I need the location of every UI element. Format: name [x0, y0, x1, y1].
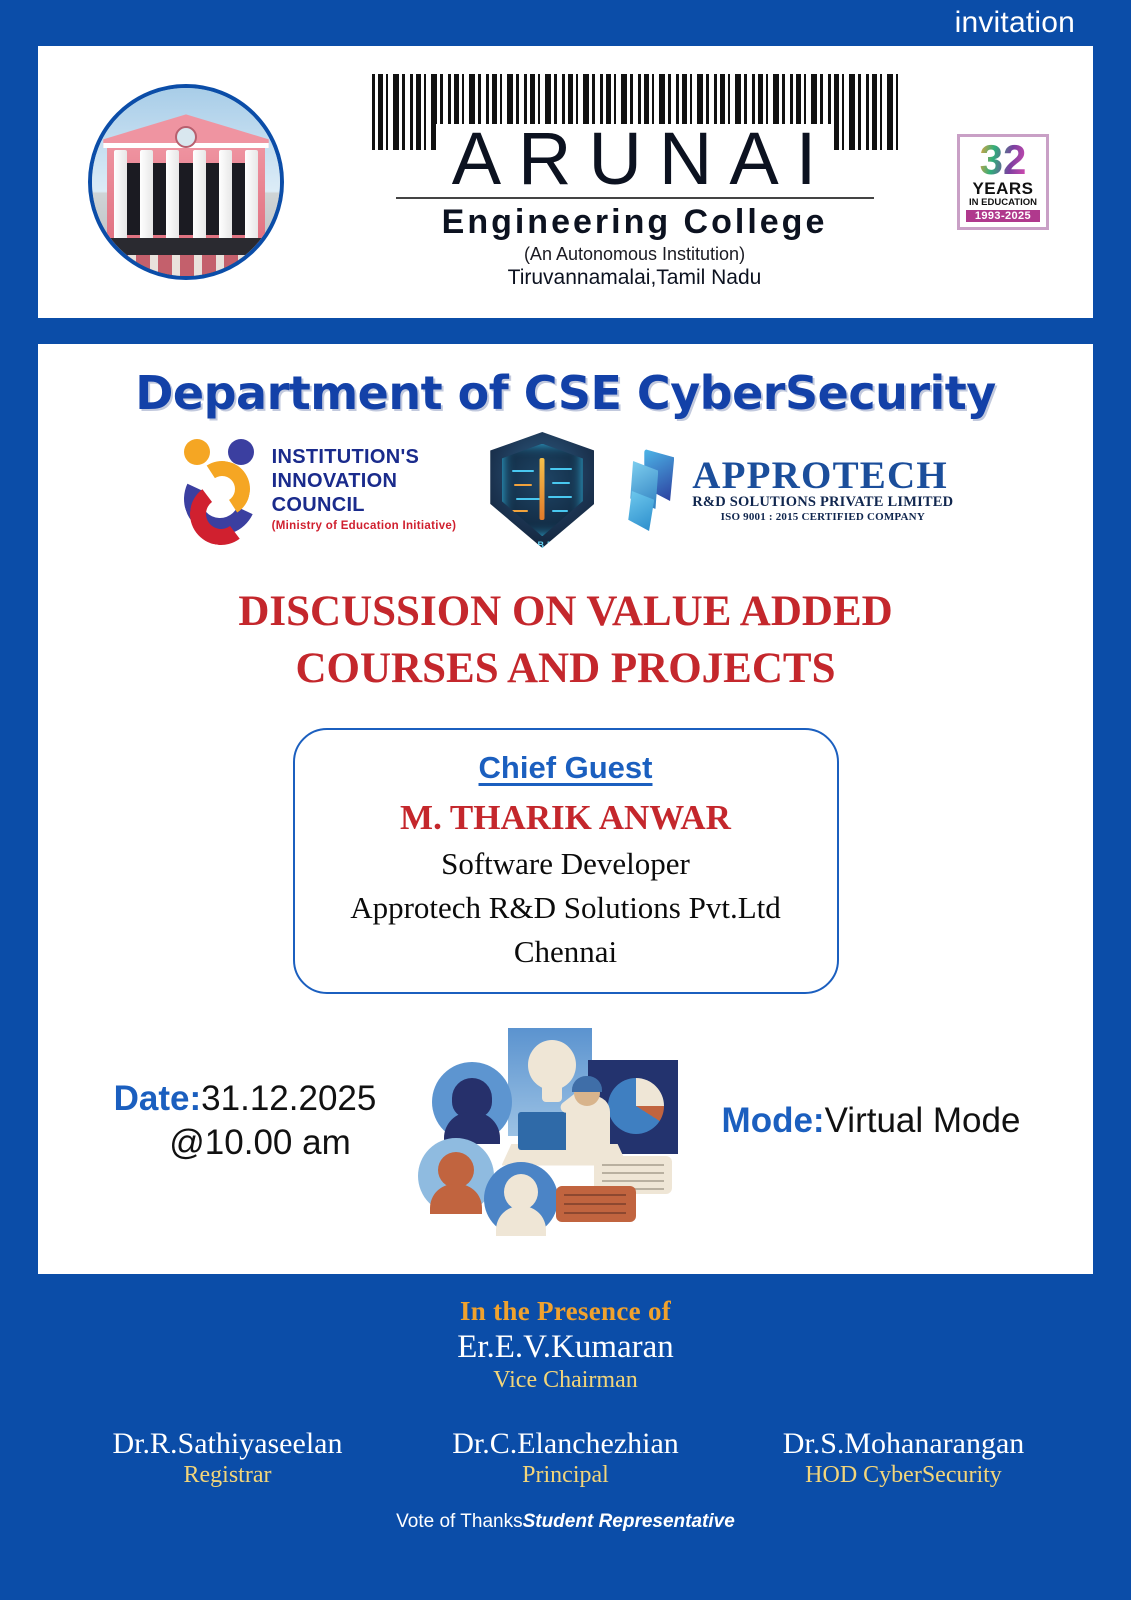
- date-label: Date:: [114, 1079, 202, 1118]
- mode-block: Mode:Virtual Mode: [691, 1101, 1051, 1141]
- mode-label: Mode:: [722, 1101, 825, 1140]
- vice-chairman-role: Vice Chairman: [0, 1367, 1131, 1394]
- pie-chart-icon: [608, 1078, 664, 1134]
- badge-education: IN EDUCATION: [969, 197, 1037, 208]
- mode-line: Mode:Virtual Mode: [691, 1101, 1051, 1141]
- approtech-line3: ISO 9001 : 2015 CERTIFIED COMPANY: [692, 511, 953, 523]
- partner-logos-row: INSTITUTION'S INNOVATION COUNCIL (Minist…: [62, 432, 1069, 548]
- date-line: Date:31.12.2025: [80, 1079, 410, 1119]
- virtual-meeting-illustration: [416, 1016, 686, 1226]
- avatar-icon: [484, 1162, 558, 1236]
- date-block: Date:31.12.2025 @10.00 am: [80, 1079, 410, 1163]
- college-name: ARUNAI: [436, 124, 834, 194]
- signatory-principal: Dr.C.Elanchezhian Principal: [406, 1428, 726, 1489]
- invitation-poster: { "top_label": "invitation", "header": {…: [0, 0, 1131, 1600]
- event-main-panel: Department of CSE CyberSecurity INSTITUT…: [38, 344, 1093, 1274]
- anniversary-badge: 32 YEARS IN EDUCATION 1993-2025: [957, 134, 1049, 230]
- sword-icon: [540, 458, 545, 519]
- department-title: Department of CSE CyberSecurity: [135, 366, 996, 420]
- vote-of-thanks-label: Vote of Thanks: [396, 1511, 522, 1532]
- mode-value: Virtual Mode: [825, 1101, 1021, 1140]
- chief-guest-city: Chennai: [315, 930, 817, 974]
- badge-number: 32: [980, 140, 1027, 180]
- badge-year-range: 1993-2025: [966, 210, 1040, 222]
- approtech-name: APPROTECH: [692, 457, 953, 494]
- iic-line1: INSTITUTION'S: [272, 446, 457, 470]
- approtech-logo-text: APPROTECH R&D SOLUTIONS PRIVATE LIMITED …: [692, 457, 953, 523]
- chief-guest-organisation: Approtech R&D Solutions Pvt.Ltd: [315, 886, 817, 930]
- chief-guest-name: M. THARIK ANWAR: [315, 798, 817, 838]
- college-name-line2: Engineering College: [442, 203, 828, 242]
- autonomous-tagline: (An Autonomous Institution): [524, 244, 745, 265]
- building-plaza: [92, 255, 280, 276]
- event-title-line1: DISCUSSION ON VALUE ADDED: [238, 584, 892, 641]
- approtech-logo: APPROTECH R&D SOLUTIONS PRIVATE LIMITED …: [628, 447, 953, 533]
- signatory-registrar: Dr.R.Sathiyaseelan Registrar: [68, 1428, 388, 1489]
- badge-years: YEARS: [972, 180, 1033, 197]
- chief-guest-heading: Chief Guest: [315, 750, 817, 786]
- cyber-shield-label: CYBER: [490, 540, 594, 550]
- chief-guest-box: Chief Guest M. THARIK ANWAR Software Dev…: [293, 728, 839, 994]
- chief-guest-designation: Software Developer: [315, 842, 817, 886]
- cyber-shield-icon: CYBER: [490, 432, 594, 548]
- college-header-panel: ARUNAI Engineering College (An Autonomou…: [38, 46, 1093, 318]
- college-location: Tiruvannamalai,Tamil Nadu: [508, 266, 762, 290]
- college-building-photo: [88, 84, 284, 280]
- building-columns: [107, 150, 265, 238]
- iic-line3: COUNCIL: [272, 494, 457, 518]
- vote-of-thanks-by: Student Representative: [523, 1511, 735, 1532]
- vice-chairman-name: Er.E.V.Kumaran: [0, 1329, 1131, 1366]
- arunai-wordmark: ARUNAI Engineering College (An Autonomou…: [318, 74, 951, 289]
- avatar-icon: [432, 1062, 512, 1142]
- signatory-name: Dr.C.Elanchezhian: [406, 1428, 726, 1460]
- signatories-row: Dr.R.Sathiyaseelan Registrar Dr.C.Elanch…: [0, 1428, 1131, 1489]
- iic-line2: INNOVATION: [272, 470, 457, 494]
- iic-people-icon: [178, 435, 262, 545]
- signatory-name: Dr.R.Sathiyaseelan: [68, 1428, 388, 1460]
- time-value: @10.00 am: [80, 1123, 410, 1163]
- signatory-role: Principal: [406, 1462, 726, 1489]
- shield-inner: [502, 444, 583, 537]
- speech-bubble-icon: [556, 1186, 636, 1222]
- signatory-role: HOD CyberSecurity: [744, 1462, 1064, 1489]
- vote-of-thanks: Vote of ThanksStudent Representative: [0, 1511, 1131, 1533]
- top-bar: invitation: [0, 0, 1131, 46]
- signatory-role: Registrar: [68, 1462, 388, 1489]
- panel-gap: [0, 318, 1131, 344]
- avatar-icon: [418, 1138, 494, 1214]
- college-emblem-icon: [175, 126, 197, 148]
- signatory-name: Dr.S.Mohanarangan: [744, 1428, 1064, 1460]
- invitation-label: invitation: [955, 6, 1075, 40]
- footer: In the Presence of Er.E.V.Kumaran Vice C…: [0, 1274, 1131, 1543]
- signatory-hod: Dr.S.Mohanarangan HOD CyberSecurity: [744, 1428, 1064, 1489]
- approtech-mark-icon: [628, 447, 690, 533]
- presence-label: In the Presence of: [0, 1296, 1131, 1327]
- iic-logo: INSTITUTION'S INNOVATION COUNCIL (Minist…: [178, 435, 457, 545]
- date-value: 31.12.2025: [201, 1079, 376, 1118]
- event-details-row: Date:31.12.2025 @10.00 am Mode:Virtual M…: [62, 1016, 1069, 1226]
- approtech-line2: R&D SOLUTIONS PRIVATE LIMITED: [692, 494, 953, 511]
- event-title-line2: COURSES AND PROJECTS: [238, 641, 892, 698]
- event-title: DISCUSSION ON VALUE ADDED COURSES AND PR…: [238, 584, 892, 698]
- iic-logo-text: INSTITUTION'S INNOVATION COUNCIL (Minist…: [272, 446, 457, 533]
- iic-subtitle: (Ministry of Education Initiative): [272, 520, 457, 534]
